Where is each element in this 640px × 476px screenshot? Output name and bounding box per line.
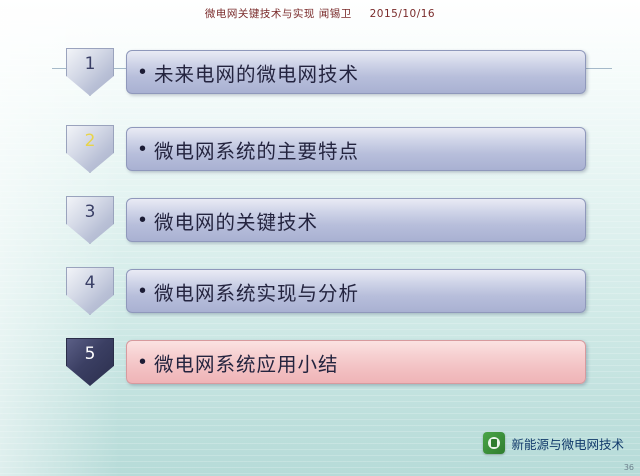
agenda-row-2[interactable]: 2 • 微电网系统的主要特点 bbox=[66, 125, 586, 173]
bullet-icon: • bbox=[139, 281, 146, 301]
agenda-number-2: 2 bbox=[66, 131, 114, 151]
agenda-bar-2[interactable]: • 微电网系统的主要特点 bbox=[126, 127, 586, 171]
wechat-qr-logo-icon bbox=[483, 432, 505, 454]
bullet-icon: • bbox=[139, 62, 146, 82]
slide-canvas: 微电网关键技术与实现 闻锡卫 2015/10/16 1 • 未来电网的微电网技术… bbox=[0, 0, 640, 476]
agenda-label-3: 微电网的关键技术 bbox=[154, 206, 318, 235]
agenda-bar-3[interactable]: • 微电网的关键技术 bbox=[126, 198, 586, 242]
agenda-number-4: 4 bbox=[66, 273, 114, 293]
agenda-number-1: 1 bbox=[66, 54, 114, 74]
agenda-arrow-5: 5 bbox=[66, 338, 114, 386]
agenda-label-5: 微电网系统应用小结 bbox=[154, 348, 339, 377]
bullet-icon: • bbox=[139, 210, 146, 230]
agenda-label-1: 未来电网的微电网技术 bbox=[154, 58, 359, 87]
brand-label: 新能源与微电网技术 bbox=[511, 434, 624, 453]
agenda-arrow-2: 2 bbox=[66, 125, 114, 173]
slide-header: 微电网关键技术与实现 闻锡卫 2015/10/16 bbox=[0, 6, 640, 21]
agenda-label-4: 微电网系统实现与分析 bbox=[154, 277, 359, 306]
agenda-row-5[interactable]: 5 • 微电网系统应用小结 bbox=[66, 338, 586, 386]
agenda-label-2: 微电网系统的主要特点 bbox=[154, 135, 359, 164]
header-date: 2015/10/16 bbox=[370, 8, 436, 20]
bullet-icon: • bbox=[139, 352, 146, 372]
agenda-row-3[interactable]: 3 • 微电网的关键技术 bbox=[66, 196, 586, 244]
agenda-bar-1[interactable]: • 未来电网的微电网技术 bbox=[126, 50, 586, 94]
agenda-number-5: 5 bbox=[66, 344, 114, 364]
agenda-arrow-4: 4 bbox=[66, 267, 114, 315]
agenda-number-3: 3 bbox=[66, 202, 114, 222]
agenda-arrow-3: 3 bbox=[66, 196, 114, 244]
agenda-row-4[interactable]: 4 • 微电网系统实现与分析 bbox=[66, 267, 586, 315]
brand-watermark: 新能源与微电网技术 bbox=[483, 432, 624, 454]
agenda-bar-4[interactable]: • 微电网系统实现与分析 bbox=[126, 269, 586, 313]
agenda-arrow-1: 1 bbox=[66, 48, 114, 96]
page-number: 36 bbox=[624, 463, 634, 472]
agenda-row-1[interactable]: 1 • 未来电网的微电网技术 bbox=[66, 48, 586, 96]
bullet-icon: • bbox=[139, 139, 146, 159]
agenda-bar-5[interactable]: • 微电网系统应用小结 bbox=[126, 340, 586, 384]
header-title: 微电网关键技术与实现 闻锡卫 bbox=[205, 8, 352, 20]
